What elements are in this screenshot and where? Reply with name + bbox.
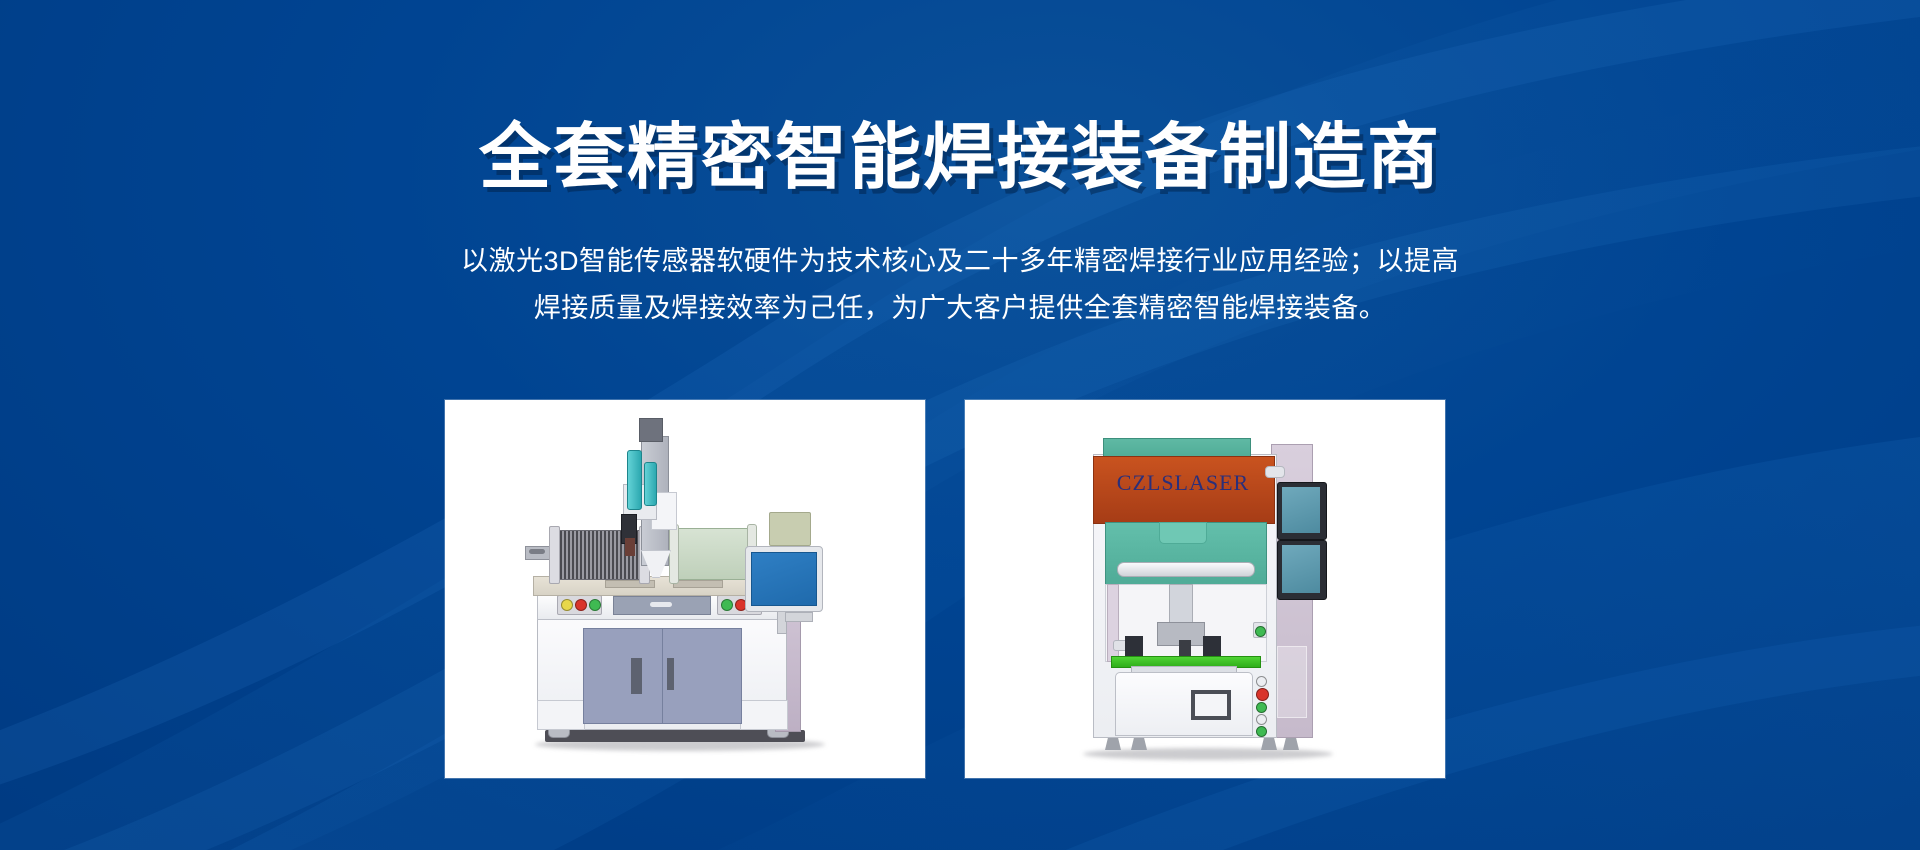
lower-monitor-screen bbox=[1282, 545, 1320, 593]
gate-led-green bbox=[1255, 626, 1266, 637]
roller-flange-left bbox=[669, 524, 679, 584]
service-pipe bbox=[1265, 466, 1285, 478]
machine-illustration-left bbox=[445, 400, 925, 778]
table-slot-right bbox=[673, 580, 723, 588]
door-handle-left bbox=[631, 658, 642, 694]
page-title: 全套精密智能焊接装备制造商 bbox=[0, 118, 1920, 199]
workpiece-roller bbox=[673, 528, 753, 580]
machine-illustration-right: CZLSLASER bbox=[965, 400, 1445, 778]
spool-flange-left bbox=[549, 526, 560, 584]
operator-keypad bbox=[1191, 690, 1231, 720]
floor-mat bbox=[545, 730, 805, 742]
cabinet-door-left bbox=[583, 628, 663, 724]
status-led-green-2 bbox=[1256, 726, 1267, 737]
subtitle-line-2: 焊接质量及焊接效率为己任，为广大客户提供全套精密智能焊接装备。 bbox=[390, 285, 1530, 332]
product-image-precision-seam-welding-machine[interactable] bbox=[445, 400, 925, 778]
welding-nozzle-tip bbox=[625, 538, 635, 556]
cabinet-plinth-left bbox=[537, 700, 585, 730]
product-gallery: CZLSLASER bbox=[445, 400, 1445, 778]
hero-banner: 全套精密智能焊接装备制造商 以激光3D智能传感器软硬件为技术核心及二十多年精密焊… bbox=[0, 0, 1920, 850]
indicator-red-left bbox=[575, 599, 587, 611]
monitor-arm-horizontal bbox=[785, 612, 813, 622]
cabinet-plinth-right bbox=[740, 700, 788, 730]
brand-wordmark: CZLSLASER bbox=[1093, 472, 1273, 494]
upper-monitor-screen bbox=[1282, 487, 1320, 533]
cabinet-door-right bbox=[662, 628, 742, 724]
product-image-czlslaser-enclosed-laser-welding-cell[interactable]: CZLSLASER bbox=[965, 400, 1445, 778]
indicator-green-right bbox=[721, 599, 733, 611]
status-led-red bbox=[1256, 688, 1269, 701]
spindle-shaft-detail-left bbox=[529, 549, 545, 554]
lower-cabinet bbox=[1115, 672, 1253, 736]
laser-optics-tube-secondary bbox=[644, 462, 657, 506]
hmi-monitor-screen bbox=[751, 552, 817, 606]
column-cap bbox=[639, 418, 663, 442]
indicator-yellow-left bbox=[561, 599, 573, 611]
cabinet-access-panel bbox=[1277, 646, 1307, 718]
door-handle-right bbox=[667, 658, 674, 690]
auxiliary-display bbox=[769, 512, 811, 546]
enclosure-vent-tab bbox=[1159, 522, 1207, 544]
subtitle-line-1: 以激光3D智能传感器软硬件为技术核心及二十多年精密焊接行业应用经验；以提高 bbox=[390, 238, 1530, 285]
light-bar bbox=[1117, 562, 1255, 577]
laser-optics-tube bbox=[627, 450, 642, 510]
status-led-white-2 bbox=[1256, 714, 1267, 725]
indicator-green-left bbox=[589, 599, 601, 611]
panel-drawer-knob bbox=[650, 602, 672, 607]
status-led-white bbox=[1256, 676, 1267, 687]
status-led-green bbox=[1256, 702, 1267, 713]
hero-subtitle: 以激光3D智能传感器软硬件为技术核心及二十多年精密焊接行业应用经验；以提高 焊接… bbox=[390, 238, 1530, 333]
